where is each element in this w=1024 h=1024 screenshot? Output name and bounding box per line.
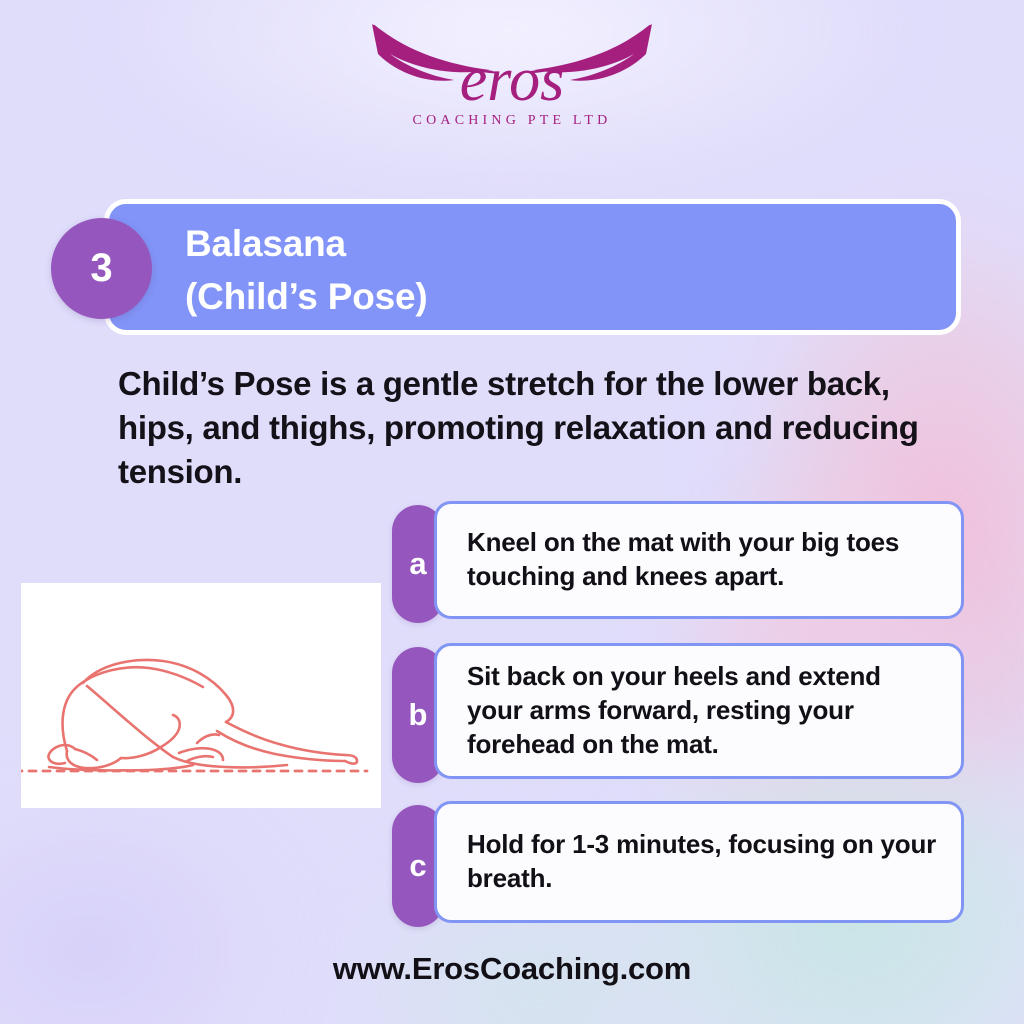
step-card-a: Kneel on the mat with your big toes touc… bbox=[434, 501, 964, 619]
pose-illustration bbox=[21, 583, 381, 808]
pose-title: Balasana (Child’s Pose) bbox=[185, 218, 428, 323]
pose-title-sanskrit: Balasana bbox=[185, 223, 346, 264]
step-letter-label-a: a bbox=[409, 546, 426, 582]
step-letter-label-c: c bbox=[409, 848, 426, 884]
step-item-a: a Kneel on the mat with your big toes to… bbox=[392, 501, 964, 619]
footer-website-url[interactable]: www.ErosCoaching.com bbox=[0, 951, 1024, 987]
step-item-c: c Hold for 1-3 minutes, focusing on your… bbox=[392, 801, 964, 923]
pose-number-badge: 3 bbox=[51, 218, 152, 319]
step-item-b: b Sit back on your heels and extend your… bbox=[392, 643, 964, 779]
step-text-c: Hold for 1-3 minutes, focusing on your b… bbox=[467, 828, 939, 896]
background-blob-violet-bottom-left bbox=[0, 784, 300, 1024]
step-text-b: Sit back on your heels and extend your a… bbox=[467, 660, 939, 761]
pose-number-label: 3 bbox=[90, 246, 112, 291]
pose-title-banner: Balasana (Child’s Pose) bbox=[104, 199, 961, 335]
step-card-c: Hold for 1-3 minutes, focusing on your b… bbox=[434, 801, 964, 923]
poster-canvas: eros COACHING PTE LTD Balasana (Child’s … bbox=[0, 0, 1024, 1024]
winged-eros-logo-icon: eros COACHING PTE LTD bbox=[362, 14, 662, 134]
childs-pose-figure-icon bbox=[21, 583, 381, 808]
svg-text:eros: eros bbox=[460, 46, 564, 114]
pose-description: Child’s Pose is a gentle stretch for the… bbox=[118, 362, 963, 495]
step-card-b: Sit back on your heels and extend your a… bbox=[434, 643, 964, 779]
brand-logo: eros COACHING PTE LTD bbox=[0, 14, 1024, 154]
pose-title-english: (Child’s Pose) bbox=[185, 271, 428, 324]
step-letter-label-b: b bbox=[409, 697, 428, 733]
steps-list: a Kneel on the mat with your big toes to… bbox=[392, 501, 964, 923]
svg-text:COACHING PTE LTD: COACHING PTE LTD bbox=[413, 113, 612, 128]
step-text-a: Kneel on the mat with your big toes touc… bbox=[467, 526, 939, 594]
